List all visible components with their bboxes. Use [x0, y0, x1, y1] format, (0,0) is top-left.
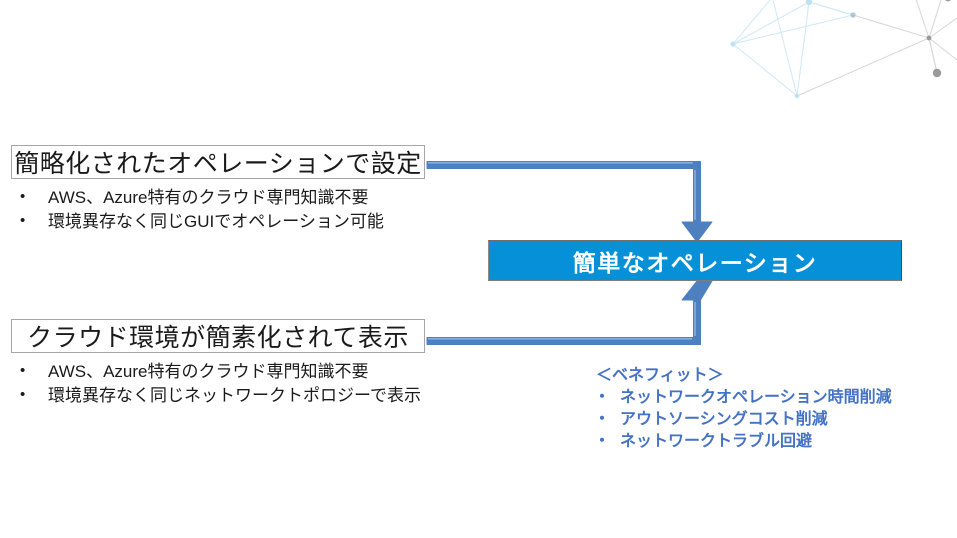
list-item: 環境異存なく同じネットワークトポロジーで表示	[14, 384, 514, 408]
list-item: AWS、Azure特有のクラウド専門知識不要	[14, 360, 514, 384]
heading-box-simplified-operation: 簡略化されたオペレーションで設定	[11, 145, 425, 179]
result-box-easy-operation: 簡単なオペレーション	[488, 240, 902, 281]
slide-canvas: 簡略化されたオペレーションで設定 AWS、Azure特有のクラウド専門知識不要 …	[0, 0, 957, 538]
benefits-block: ＜ベネフィット＞ ネットワークオペレーション時間削減 アウトソーシングコスト削減…	[596, 365, 892, 453]
benefits-title: ＜ベネフィット＞	[596, 365, 892, 387]
list-item: アウトソーシングコスト削減	[596, 409, 892, 431]
benefits-list: ネットワークオペレーション時間削減 アウトソーシングコスト削減 ネットワークトラ…	[596, 387, 892, 453]
heading-box-label: クラウド環境が簡素化されて表示	[27, 318, 409, 354]
list-item: ネットワークオペレーション時間削減	[596, 387, 892, 409]
elbow-arrow-up-icon	[427, 281, 712, 345]
list-item: 環境異存なく同じGUIでオペレーション可能	[14, 210, 484, 234]
heading-box-label: 簡略化されたオペレーションで設定	[14, 144, 422, 180]
list-item: AWS、Azure特有のクラウド専門知識不要	[14, 186, 484, 210]
network-graph-decoration	[697, 0, 957, 122]
bullet-list-simplified-operation: AWS、Azure特有のクラウド専門知識不要 環境異存なく同じGUIでオペレーシ…	[14, 186, 484, 234]
heading-box-simplified-cloud-view: クラウド環境が簡素化されて表示	[11, 319, 425, 353]
list-item: ネットワークトラブル回避	[596, 431, 892, 453]
bullet-list-simplified-cloud-view: AWS、Azure特有のクラウド専門知識不要 環境異存なく同じネットワークトポロ…	[14, 360, 514, 408]
result-box-label: 簡単なオペレーション	[573, 244, 818, 278]
